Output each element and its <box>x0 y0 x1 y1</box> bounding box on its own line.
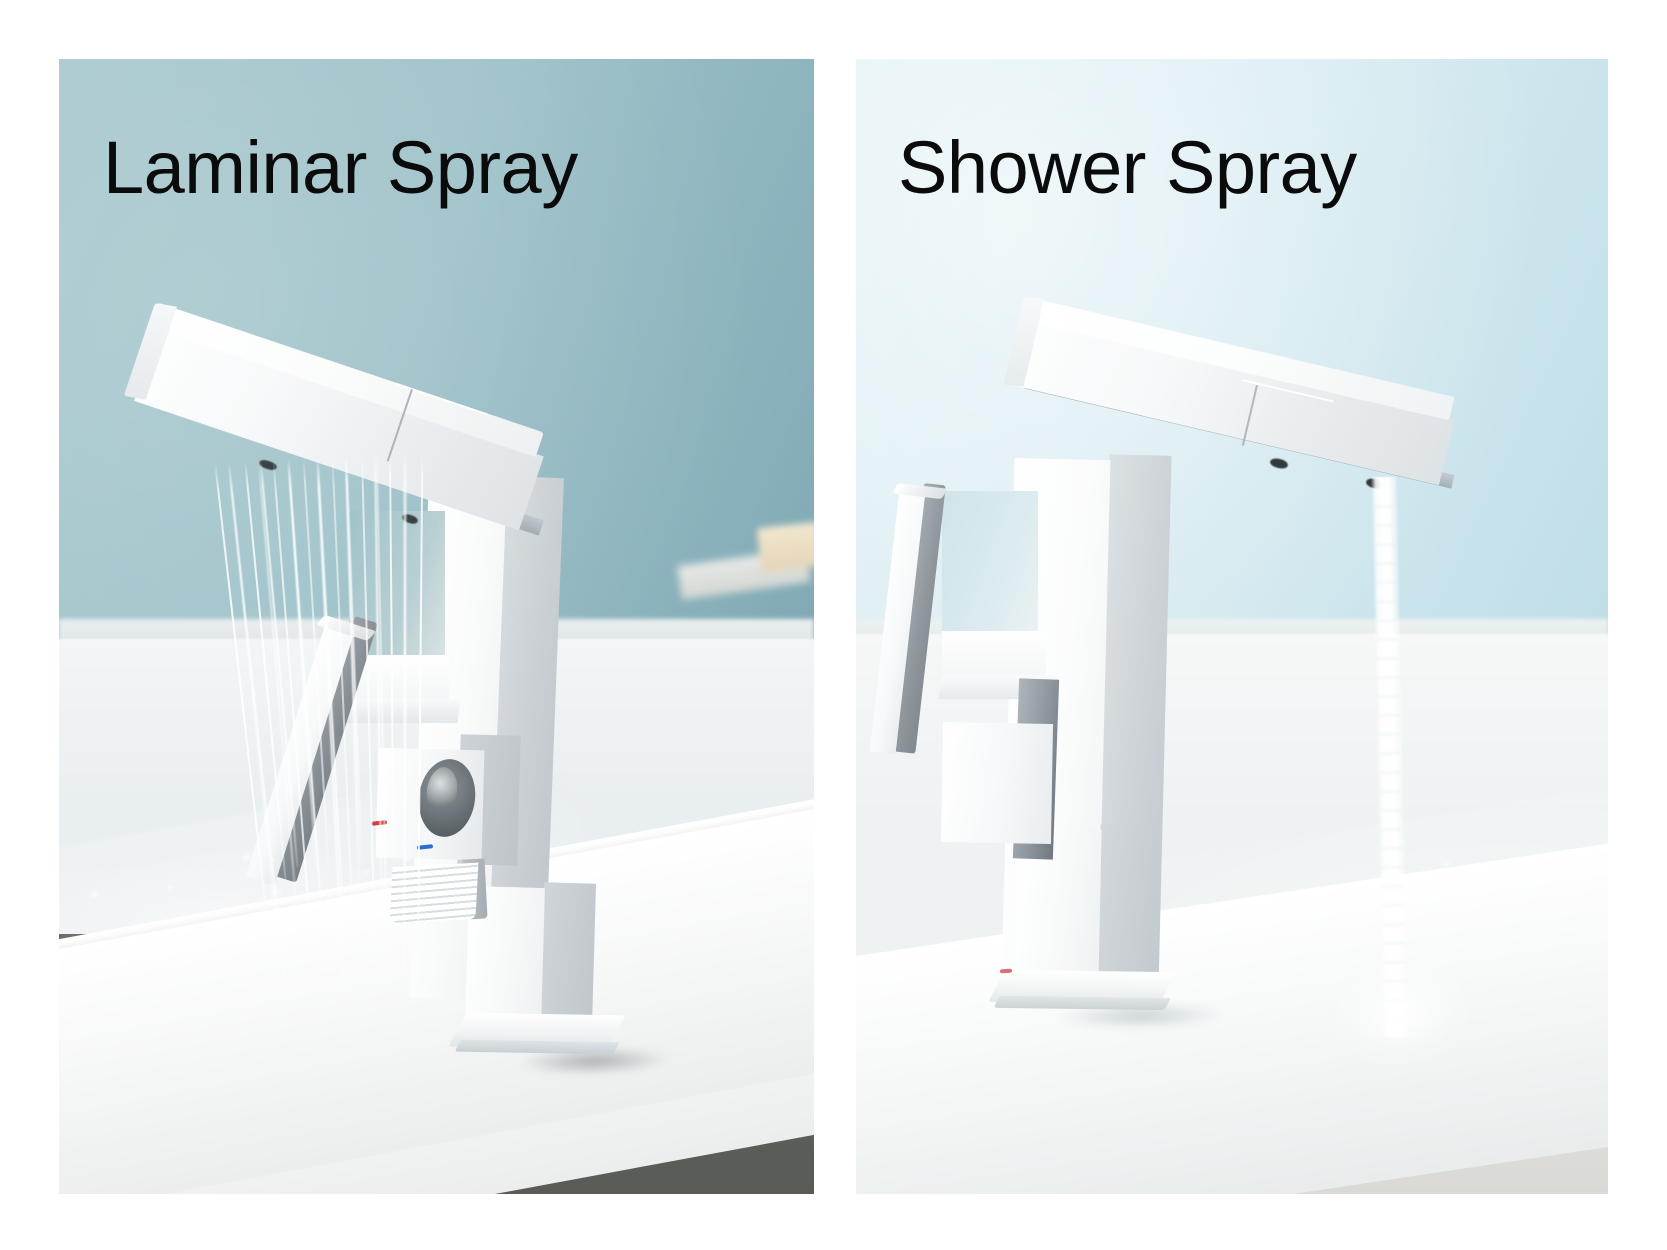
faucet-pedestal-side-left <box>540 882 596 1027</box>
panel-shower-spray[interactable]: Shower Spray <box>856 59 1608 1194</box>
caption-shower-spray: Shower Spray <box>898 131 1357 205</box>
faucet-notch-shelf-left <box>345 699 460 723</box>
faucet-pedestal-side-right <box>1097 824 1156 987</box>
hot-indicator-icon-right <box>1000 969 1012 974</box>
faucet-nozzle-a-left <box>258 458 278 471</box>
comparison-stage: Laminar Spray <box>0 0 1667 1250</box>
faucet-base-edge-right <box>994 996 1171 1010</box>
water-impact-right <box>1319 949 1483 1079</box>
caption-laminar-spray: Laminar Spray <box>103 131 578 205</box>
faucet-base-edge-left <box>454 1040 619 1055</box>
faucet-pivot-block-right[interactable] <box>941 722 1053 844</box>
panel-laminar-spray[interactable]: Laminar Spray <box>59 59 814 1194</box>
